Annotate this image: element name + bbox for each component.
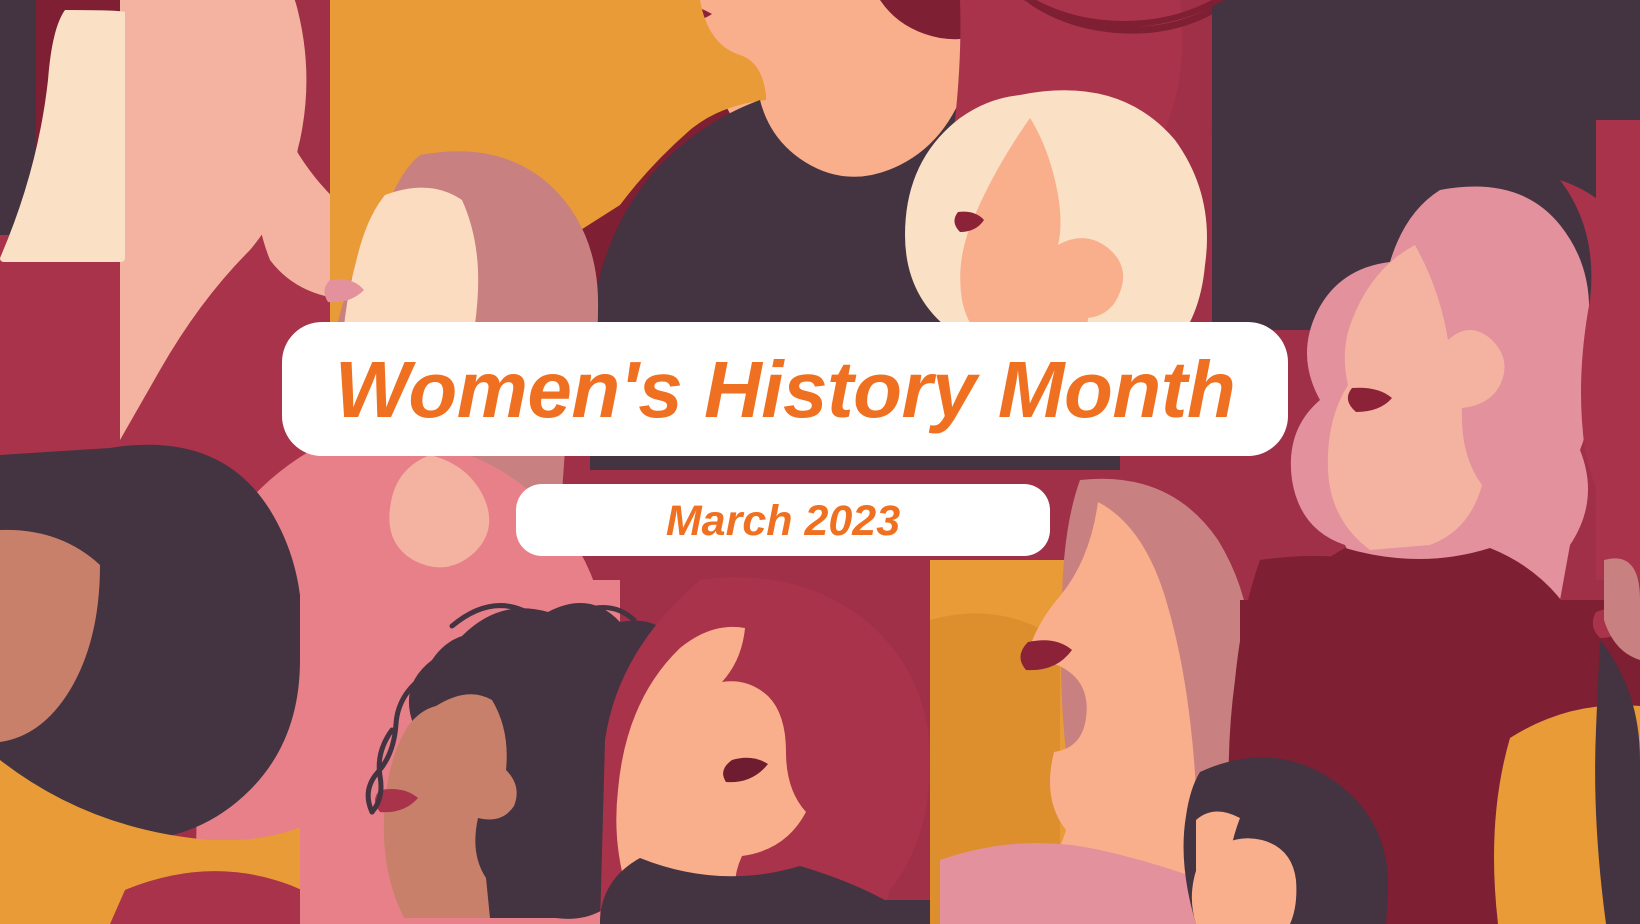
womens-history-month-banner: Women's History Month March 2023 — [0, 0, 1640, 924]
subtitle-card: March 2023 — [516, 484, 1050, 556]
title-card: Women's History Month — [282, 322, 1288, 456]
background-illustration — [0, 0, 1640, 924]
page-title: Women's History Month — [335, 350, 1235, 430]
date-label: March 2023 — [666, 500, 900, 543]
